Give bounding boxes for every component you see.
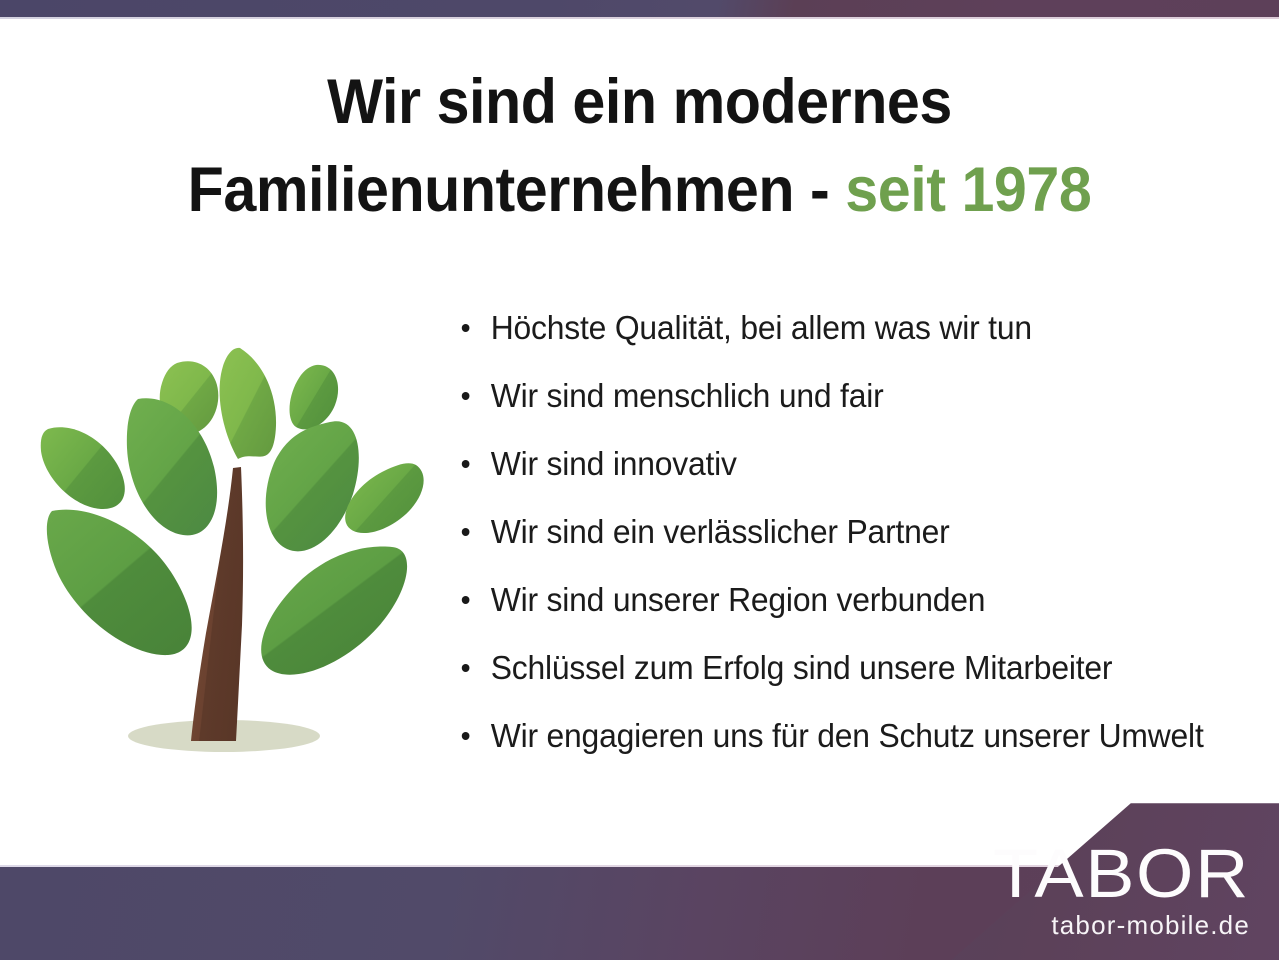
bullet-dot-icon (462, 528, 470, 536)
headline-accent-year: seit 1978 (845, 155, 1091, 225)
list-item-label: Wir sind innovativ (491, 445, 737, 482)
list-item-label: Wir sind menschlich und fair (491, 377, 884, 414)
bullet-dot-icon (462, 664, 470, 672)
tree-leaf-5 (41, 427, 125, 509)
list-item: Wir sind ein verlässlicher Partner (455, 507, 1237, 575)
logo-wordmark: TABOR (929, 842, 1250, 907)
page-title: Wir sind ein modernes Familienunternehme… (38, 58, 1240, 234)
tree-leaf-9 (261, 547, 407, 675)
headline-line-2: Familienunternehmen - seit 1978 (38, 146, 1240, 234)
brand-logo: TABOR tabor-mobile.de (950, 842, 1250, 938)
list-item-label: Wir sind ein verlässlicher Partner (491, 513, 950, 550)
bullet-dot-icon (462, 460, 470, 468)
tree-leaf-2 (220, 348, 276, 459)
list-item-label: Wir sind unserer Region verbunden (491, 581, 986, 618)
bullet-dot-icon (462, 596, 470, 604)
list-item: Höchste Qualität, bei allem was wir tun (455, 303, 1237, 371)
list-item: Wir sind unserer Region verbunden (455, 575, 1237, 643)
list-item: Schlüssel zum Erfolg sind unsere Mitarbe… (455, 643, 1237, 711)
list-item: Wir sind menschlich und fair (455, 371, 1237, 439)
tree-leaf-8 (47, 510, 192, 655)
bullet-dot-icon (462, 324, 470, 332)
tree-leaf-6 (266, 421, 359, 551)
bullet-dot-icon (462, 732, 470, 740)
top-accent-hairline (0, 17, 1279, 19)
top-accent-bar (0, 0, 1279, 17)
headline-line-1: Wir sind ein modernes (38, 58, 1240, 146)
tree-leaf-3 (290, 365, 339, 429)
list-item: Wir engagieren uns für den Schutz unsere… (455, 711, 1237, 779)
bullet-dot-icon (462, 392, 470, 400)
headline-line-2-main: Familienunternehmen - (188, 155, 846, 225)
tree-illustration (28, 333, 436, 758)
list-item-label: Wir engagieren uns für den Schutz unsere… (491, 717, 1204, 754)
list-item-label: Höchste Qualität, bei allem was wir tun (491, 309, 1032, 346)
list-item-label: Schlüssel zum Erfolg sind unsere Mitarbe… (491, 649, 1113, 686)
logo-website-url: tabor-mobile.de (950, 912, 1250, 938)
slide-canvas: Wir sind ein modernes Familienunternehme… (0, 0, 1279, 960)
list-item: Wir sind innovativ (455, 439, 1237, 507)
values-bullet-list: Höchste Qualität, bei allem was wir tun … (455, 303, 1265, 779)
